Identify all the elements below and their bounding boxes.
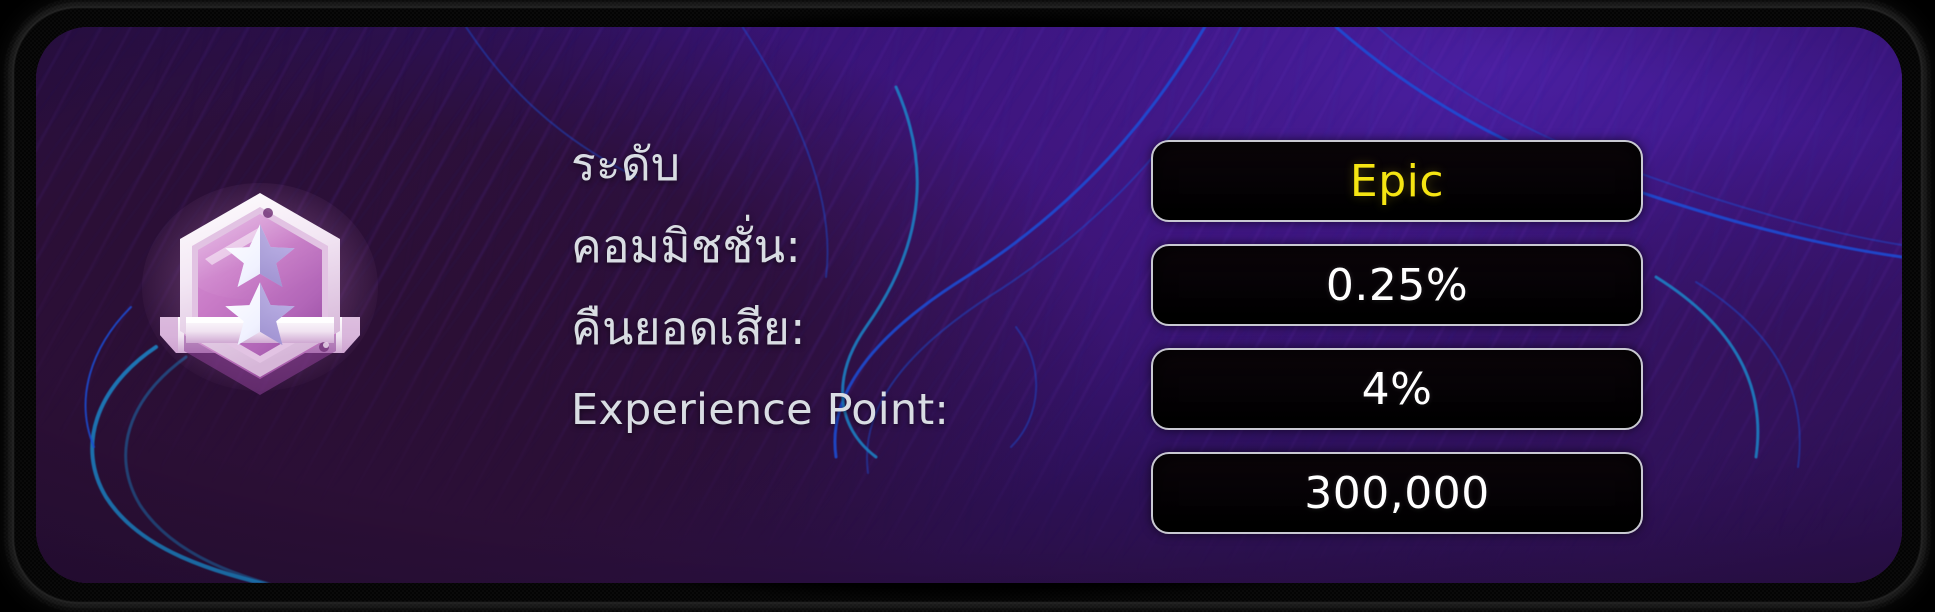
stat-value-commission: 0.25% [1326, 260, 1468, 311]
stat-value-experience-point: 300,000 [1304, 468, 1489, 519]
screenshot-stage: ระดับ คอมมิชชั่น: คืนยอดเสีย: Experience… [0, 0, 1935, 610]
stat-label-commission: คอมมิชชั่น: [571, 205, 1091, 287]
hexagon-rank-badge-icon [108, 167, 408, 397]
stat-label-column: ระดับ คอมมิชชั่น: คืนยอดเสีย: Experience… [571, 123, 1091, 451]
stat-value-box-experience-point[interactable]: 300,000 [1151, 452, 1643, 534]
rank-tier-card: ระดับ คอมมิชชั่น: คืนยอดเสีย: Experience… [36, 27, 1902, 583]
stat-value-column: Epic 0.25% 4% 300,000 [1151, 140, 1643, 534]
stat-value-box-rank[interactable]: Epic [1151, 140, 1643, 222]
stat-label-rank: ระดับ [571, 123, 1091, 205]
stat-label-cashback: คืนยอดเสีย: [571, 287, 1091, 369]
stat-value-cashback: 4% [1362, 364, 1433, 415]
stat-value-box-cashback[interactable]: 4% [1151, 348, 1643, 430]
stat-value-box-commission[interactable]: 0.25% [1151, 244, 1643, 326]
stat-label-experience-point: Experience Point: [571, 369, 1091, 451]
stat-value-rank: Epic [1350, 156, 1444, 207]
